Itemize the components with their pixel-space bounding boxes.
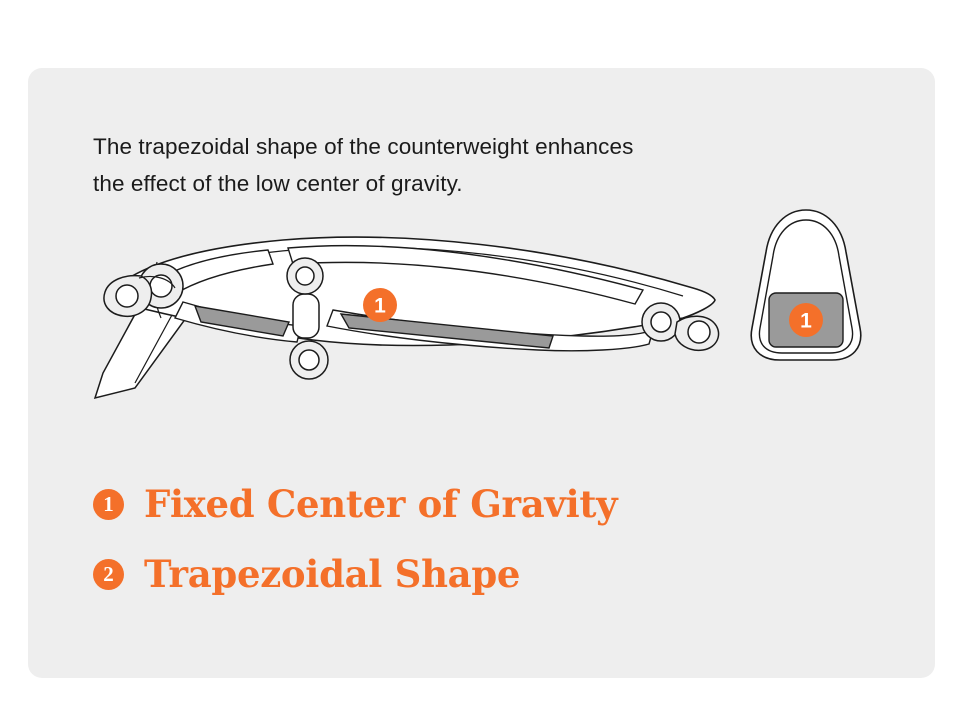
lure-belly-hanger-block xyxy=(293,294,319,338)
legend-item-2: 2 Trapezoidal Shape xyxy=(93,548,893,600)
legend-item-1: 1 Fixed Center of Gravity xyxy=(93,478,893,530)
description-text: The trapezoidal shape of the counterweig… xyxy=(93,128,883,202)
legend-badge-2: 2 xyxy=(93,559,124,590)
marker-number: 1 xyxy=(800,310,812,333)
lure-tail-ring-hole xyxy=(651,312,671,332)
marker-number: 1 xyxy=(374,295,386,318)
legend-badge-1: 1 xyxy=(93,489,124,520)
page-root: The trapezoidal shape of the counterweig… xyxy=(0,0,960,727)
diagram-figure: 1 1 xyxy=(28,218,935,478)
lure-head-split-ring-hole xyxy=(116,285,138,307)
info-card: The trapezoidal shape of the counterweig… xyxy=(28,68,935,678)
lure-cross-section: 1 xyxy=(728,198,888,388)
lure-belly-ring-hole xyxy=(299,350,319,370)
side-view-marker-1: 1 xyxy=(363,288,397,322)
cross-section-marker-1: 1 xyxy=(789,303,823,337)
lure-side-view: 1 xyxy=(83,218,723,418)
legend-list: 1 Fixed Center of Gravity 2 Trapezoidal … xyxy=(93,478,893,618)
lure-dorsal-ring-hole xyxy=(296,267,314,285)
legend-label-1: Fixed Center of Gravity xyxy=(144,484,617,524)
legend-label-2: Trapezoidal Shape xyxy=(144,554,520,594)
lure-tail-split-ring-hole xyxy=(688,321,710,343)
